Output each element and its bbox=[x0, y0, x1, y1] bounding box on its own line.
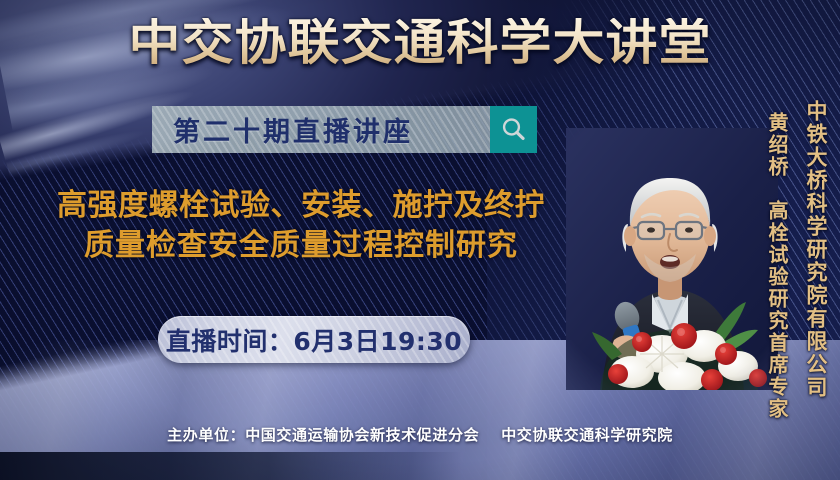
episode-subtitle-bar: 第二十期直播讲座 bbox=[152, 106, 537, 153]
speaker-organization: 中铁大桥科学研究院有限公司 bbox=[805, 100, 826, 399]
speaker-photo bbox=[566, 128, 778, 390]
broadcast-time-label: 直播时间：6月3日19:30 bbox=[166, 322, 462, 358]
episode-subtitle-bar-body: 第二十期直播讲座 bbox=[152, 106, 490, 153]
lecture-title: 高强度螺栓试验、安装、施拧及终拧 质量检查安全质量过程控制研究 bbox=[6, 186, 596, 266]
search-icon bbox=[500, 116, 527, 143]
organizer-name-1: 中国交通运输协会新技术促进分会 bbox=[245, 426, 479, 444]
bottom-dark-band bbox=[0, 452, 840, 480]
organizer-name-2: 中交协联交通科学研究院 bbox=[501, 426, 673, 444]
lecture-title-line-2: 质量检查安全质量过程控制研究 bbox=[6, 226, 596, 266]
broadcast-time-pill: 直播时间：6月3日19:30 bbox=[158, 316, 470, 363]
speaker-name-and-title: 黄绍桥 高栓试验研究首席专家 bbox=[767, 112, 787, 420]
lecture-title-line-1: 高强度螺栓试验、安装、施拧及终拧 bbox=[6, 186, 596, 226]
organizer-footer: 主办单位：中国交通运输协会新技术促进分会中交协联交通科学研究院 bbox=[0, 424, 840, 445]
page-title: 中交协联交通科学大讲堂 bbox=[0, 18, 840, 67]
organizer-prefix: 主办单位： bbox=[167, 426, 245, 444]
episode-subtitle-label: 第二十期直播讲座 bbox=[173, 110, 469, 149]
search-button[interactable] bbox=[490, 106, 537, 153]
live-lecture-banner: 中交协联交通科学大讲堂 第二十期直播讲座 高强度螺栓试验、安装、施拧及终拧 质量… bbox=[0, 0, 840, 480]
